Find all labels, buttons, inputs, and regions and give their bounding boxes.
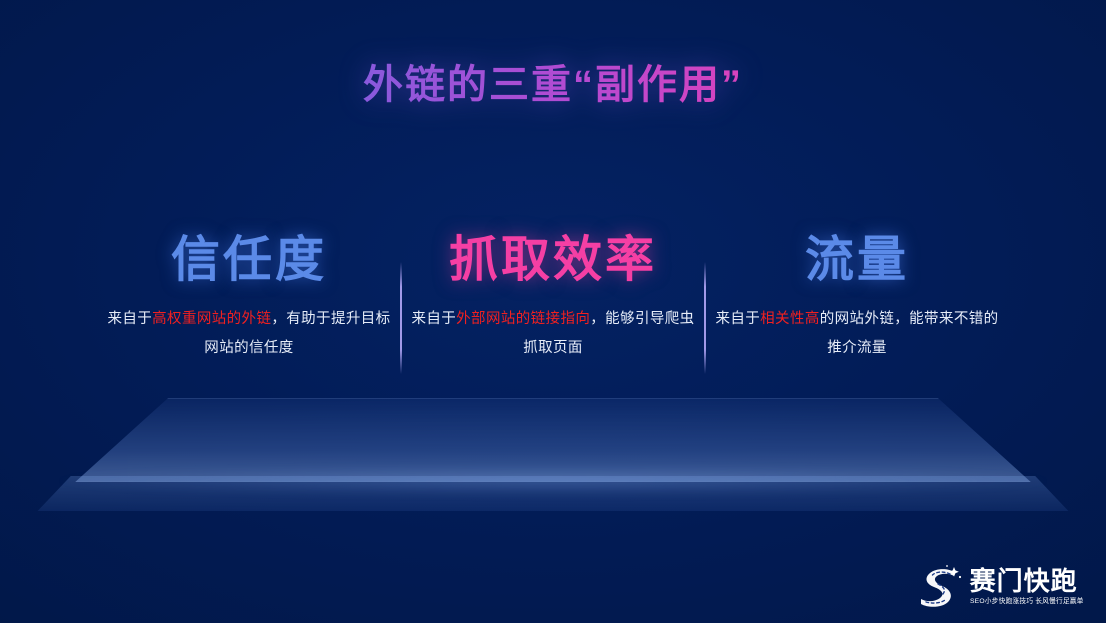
desc-highlight: 外部网站的链接指向 xyxy=(456,311,590,327)
platform-base-slab xyxy=(0,476,1106,511)
logo-name: 赛门快跑 xyxy=(970,568,1078,594)
column-description-trust: 来自于高权重网站的外链，有助于提升目标网站的信任度 xyxy=(104,305,394,363)
desc-prefix: 来自于 xyxy=(715,311,760,327)
page-title: 外链的三重“副作用” xyxy=(0,52,1106,110)
column-heading-traffic: 流量 xyxy=(712,232,1002,289)
logo-tagline: SEO小步快跑涨技巧 长风慢行足赢单 xyxy=(970,598,1084,605)
columns-container: 信任度 来自于高权重网站的外链，有助于提升目标网站的信任度 抓取效率 来自于外部… xyxy=(0,232,1106,374)
brand-logo: 赛门快跑 SEO小步快跑涨技巧 长风慢行足赢单 xyxy=(914,563,1088,609)
desc-prefix: 来自于 xyxy=(107,311,152,327)
slide-root: 外链的三重“副作用” 信任度 来自于高权重网站的外链，有助于提升目标网站的信任度… xyxy=(0,0,1106,623)
desc-prefix: 来自于 xyxy=(411,311,456,327)
column-description-traffic: 来自于相关性高的网站外链，能带来不错的推介流量 xyxy=(712,305,1002,363)
platform-edge-outline xyxy=(0,398,1106,482)
column-trust: 信任度 来自于高权重网站的外链，有助于提升目标网站的信任度 xyxy=(98,232,400,363)
column-description-crawl-efficiency: 来自于外部网站的链接指向，能够引导爬虫抓取页面 xyxy=(408,305,698,363)
desc-suffix: 的网站外链，能带来不错的推介流量 xyxy=(820,311,999,356)
column-traffic: 流量 来自于相关性高的网站外链，能带来不错的推介流量 xyxy=(706,232,1008,363)
column-heading-trust: 信任度 xyxy=(104,232,394,289)
s-road-icon xyxy=(914,563,964,609)
desc-highlight: 相关性高 xyxy=(760,311,820,327)
platform-glow xyxy=(53,468,1053,494)
column-heading-crawl-efficiency: 抓取效率 xyxy=(408,232,698,289)
column-crawl-efficiency: 抓取效率 来自于外部网站的链接指向，能够引导爬虫抓取页面 xyxy=(402,232,704,363)
platform-top-face xyxy=(0,398,1106,482)
stage-platform-graphic xyxy=(0,398,1106,528)
desc-highlight: 高权重网站的外链 xyxy=(152,311,271,327)
logo-text-block: 赛门快跑 SEO小步快跑涨技巧 长风慢行足赢单 xyxy=(970,568,1088,605)
